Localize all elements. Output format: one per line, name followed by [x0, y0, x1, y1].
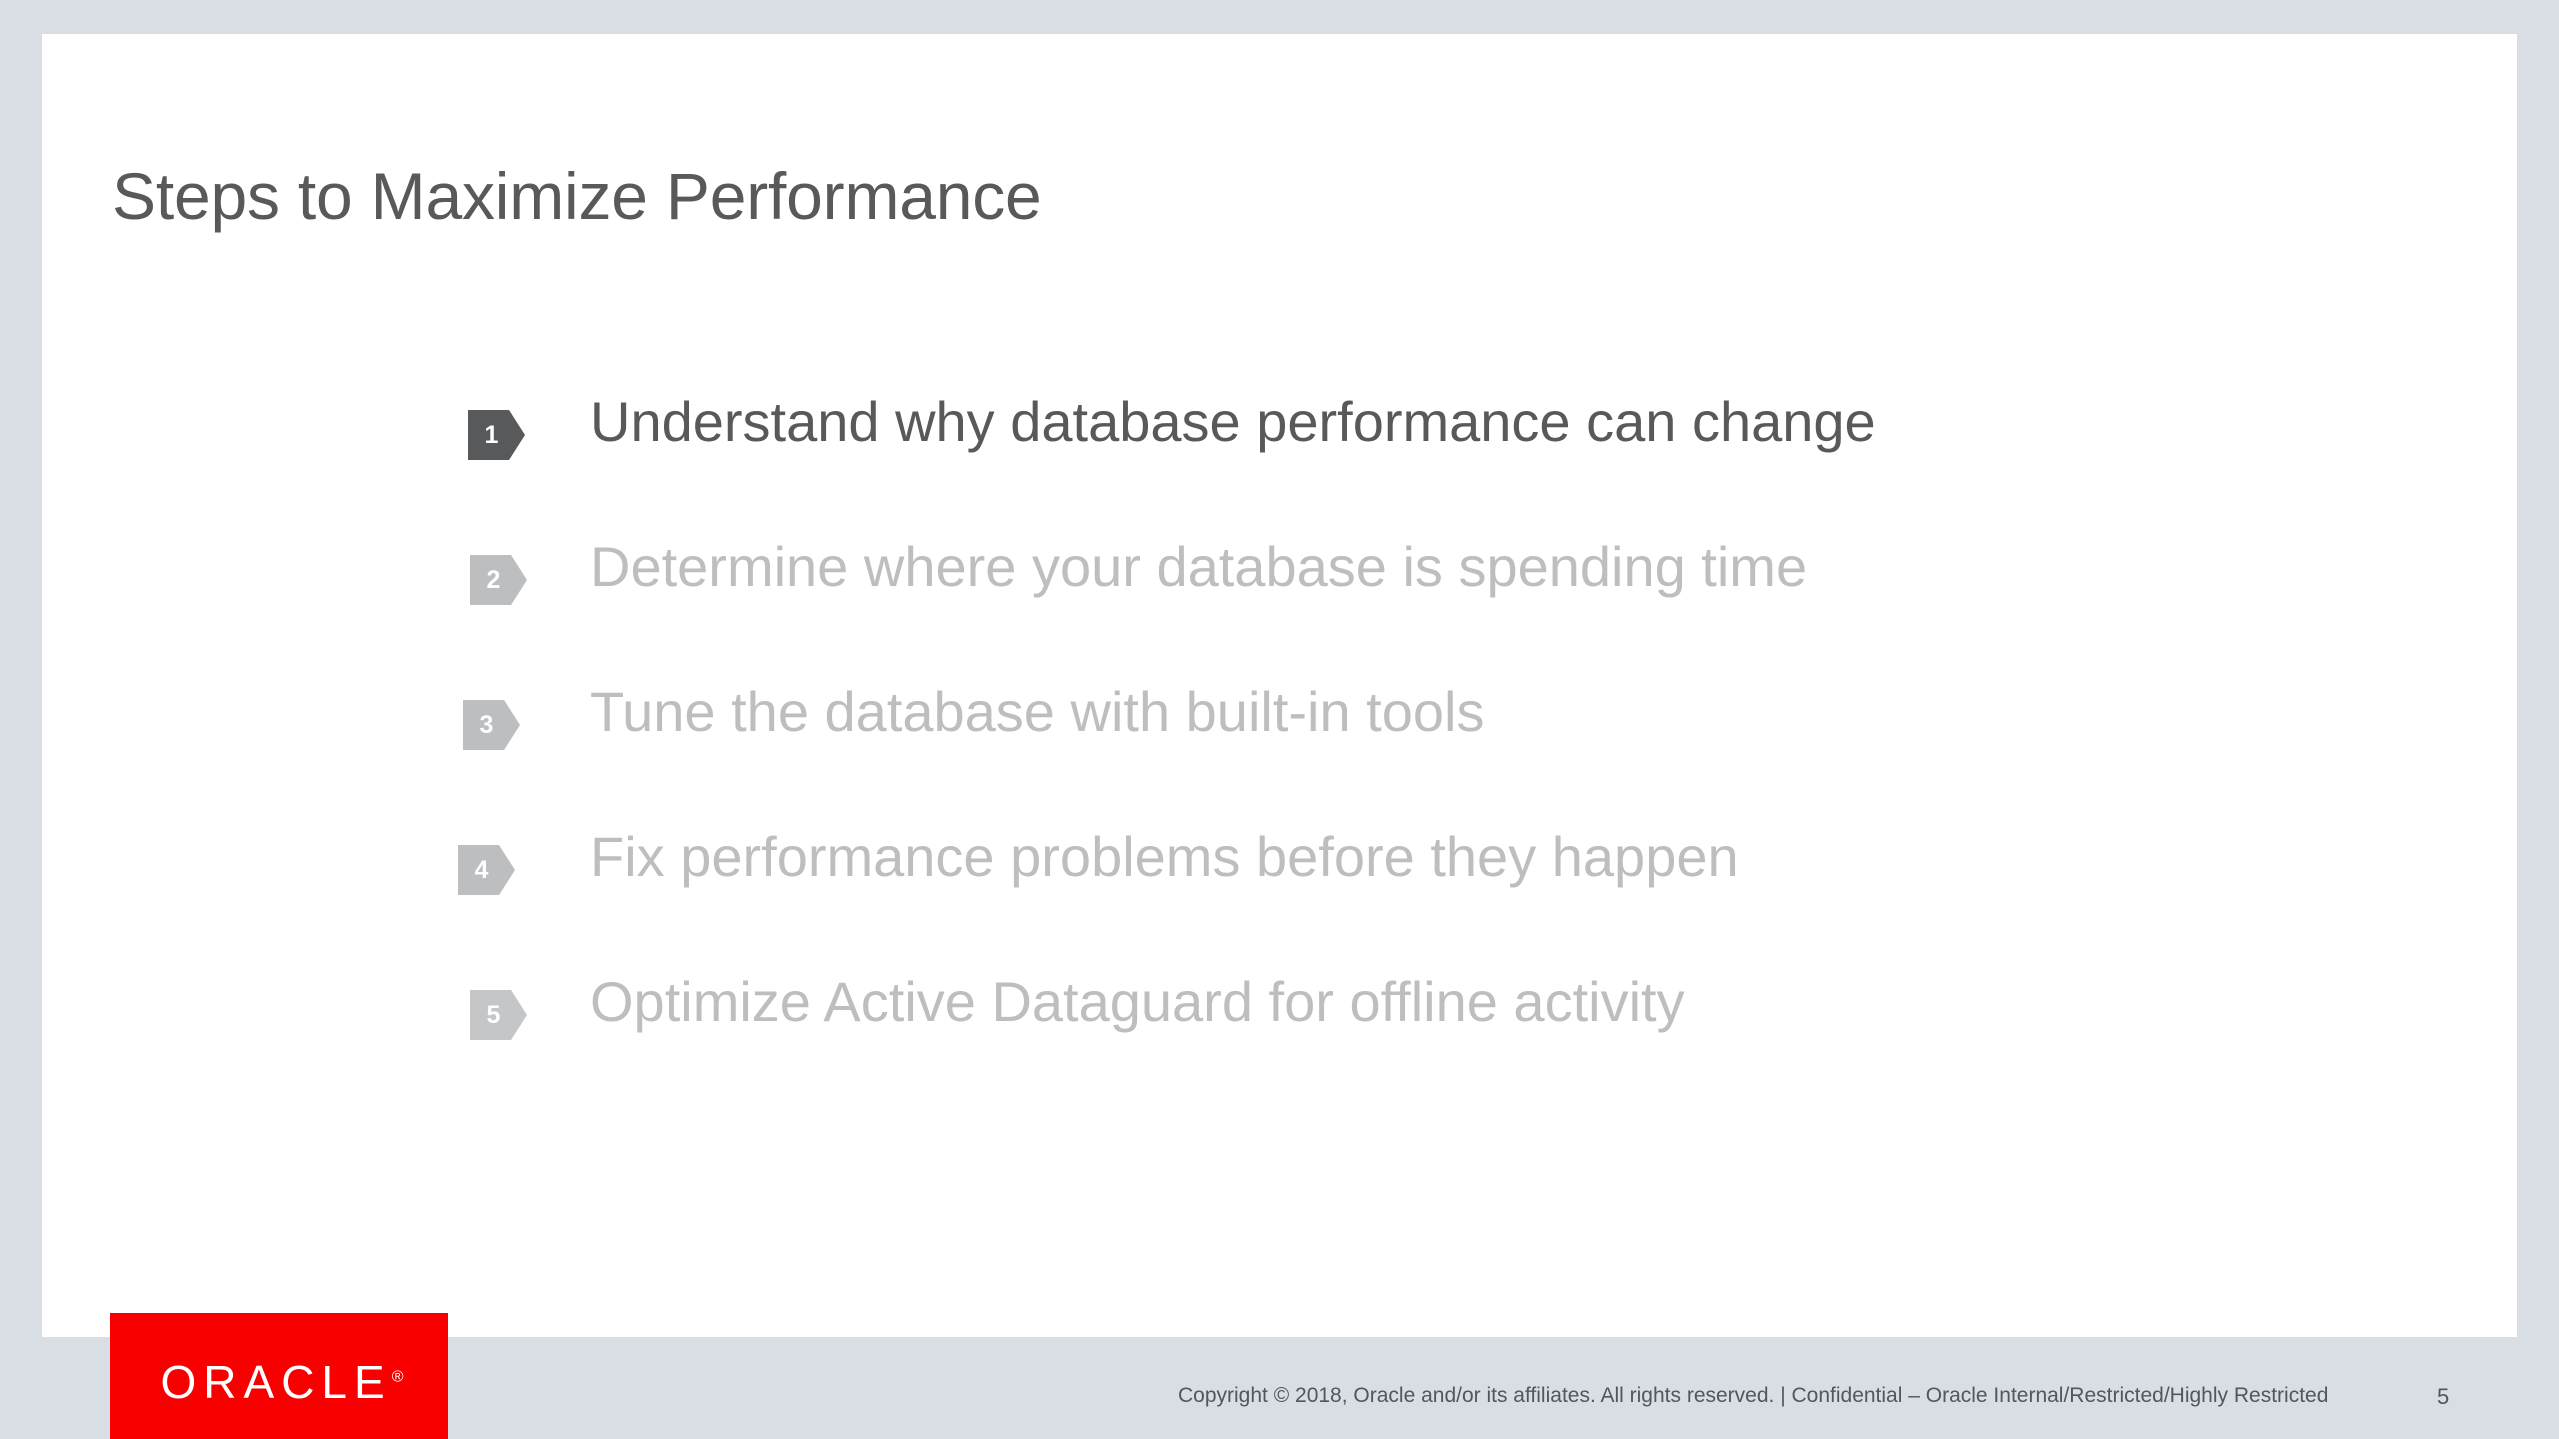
- oracle-wordmark: ORACLE: [161, 1356, 392, 1408]
- step-number-label: 3: [480, 711, 494, 740]
- steps-list: 1 Understand why database performance ca…: [0, 402, 2559, 1127]
- step-label-4: Fix performance problems before they hap…: [590, 829, 1739, 885]
- list-item[interactable]: 1 Understand why database performance ca…: [0, 402, 2559, 547]
- page-title: Steps to Maximize Performance: [112, 163, 1042, 229]
- step-number-label: 2: [487, 566, 501, 595]
- step-label-2: Determine where your database is spendin…: [590, 539, 1807, 595]
- step-number-badge-5: 5: [470, 990, 527, 1040]
- slide-frame: Steps to Maximize Performance 1 Understa…: [0, 0, 2559, 1439]
- step-label-3: Tune the database with built-in tools: [590, 684, 1484, 740]
- step-label-5: Optimize Active Dataguard for offline ac…: [590, 974, 1685, 1030]
- oracle-logo: ORACLE®: [110, 1313, 448, 1439]
- step-number-badge-2: 2: [470, 555, 527, 605]
- page-number: 5: [2437, 1384, 2449, 1410]
- footer-copyright-text: Copyright © 2018, Oracle and/or its affi…: [1178, 1384, 2328, 1408]
- oracle-logo-text: ORACLE®: [161, 1355, 404, 1409]
- step-number-label: 5: [487, 1001, 501, 1030]
- list-item[interactable]: 5 Optimize Active Dataguard for offline …: [0, 982, 2559, 1127]
- list-item[interactable]: 3 Tune the database with built-in tools: [0, 692, 2559, 837]
- list-item[interactable]: 2 Determine where your database is spend…: [0, 547, 2559, 692]
- step-number-label: 1: [485, 421, 499, 450]
- step-number-label: 4: [475, 856, 489, 885]
- step-number-badge-4: 4: [458, 845, 515, 895]
- step-number-badge-1: 1: [468, 410, 525, 460]
- step-number-badge-3: 3: [463, 700, 520, 750]
- step-label-1: Understand why database performance can …: [590, 394, 1876, 450]
- registered-trademark-icon: ®: [392, 1369, 404, 1386]
- list-item[interactable]: 4 Fix performance problems before they h…: [0, 837, 2559, 982]
